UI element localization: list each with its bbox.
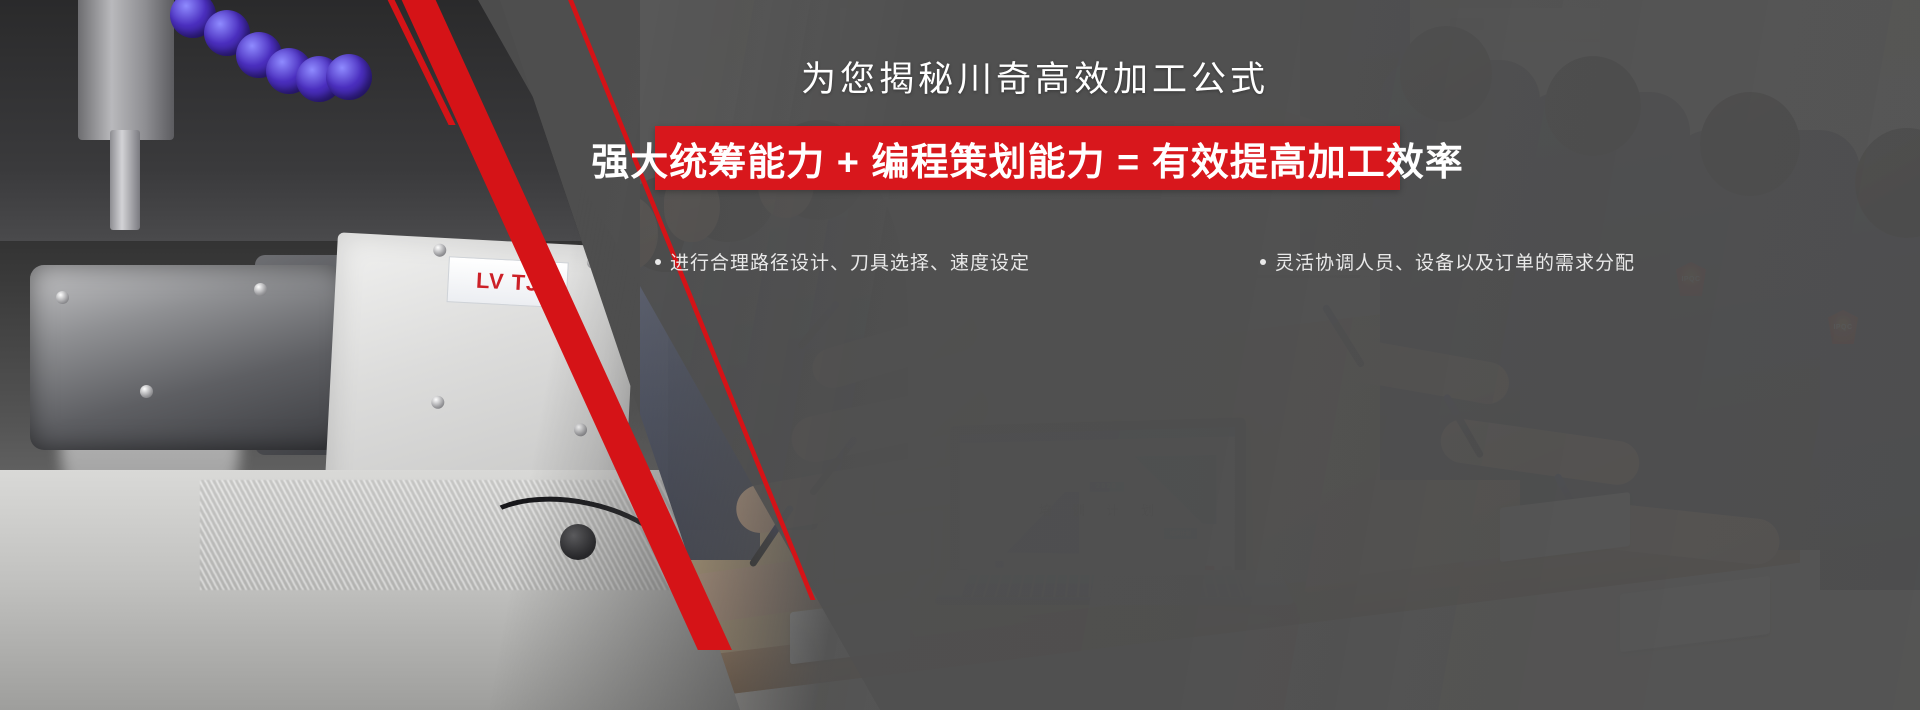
- bullet-dot-icon: [655, 259, 661, 265]
- lathe-chuck: [30, 265, 350, 450]
- promo-banner: 2020 培 训 计 划 川奇公司 培训计划: [0, 0, 1920, 710]
- formula-text: 强大统筹能力 + 编程策划能力 = 有效提高加工效率: [591, 131, 1464, 186]
- bullet-dot-icon: [1260, 259, 1266, 265]
- list-item: 进行合理路径设计、刀具选择、速度设定: [655, 248, 1030, 275]
- cutting-tool: [110, 130, 140, 230]
- bullet-list: 进行合理路径设计、刀具选择、速度设定 灵活协调人员、设备以及订单的需求分配: [655, 248, 1635, 275]
- bullet-text: 进行合理路径设计、刀具选择、速度设定: [670, 248, 1030, 275]
- list-item: 灵活协调人员、设备以及订单的需求分配: [1260, 248, 1635, 275]
- page-title: 为您揭秘川奇高效加工公式: [0, 62, 1920, 97]
- formula-banner: 强大统筹能力 + 编程策划能力 = 有效提高加工效率: [655, 126, 1400, 190]
- bullet-text: 灵活协调人员、设备以及订单的需求分配: [1275, 248, 1635, 275]
- machine-knob: [560, 524, 596, 560]
